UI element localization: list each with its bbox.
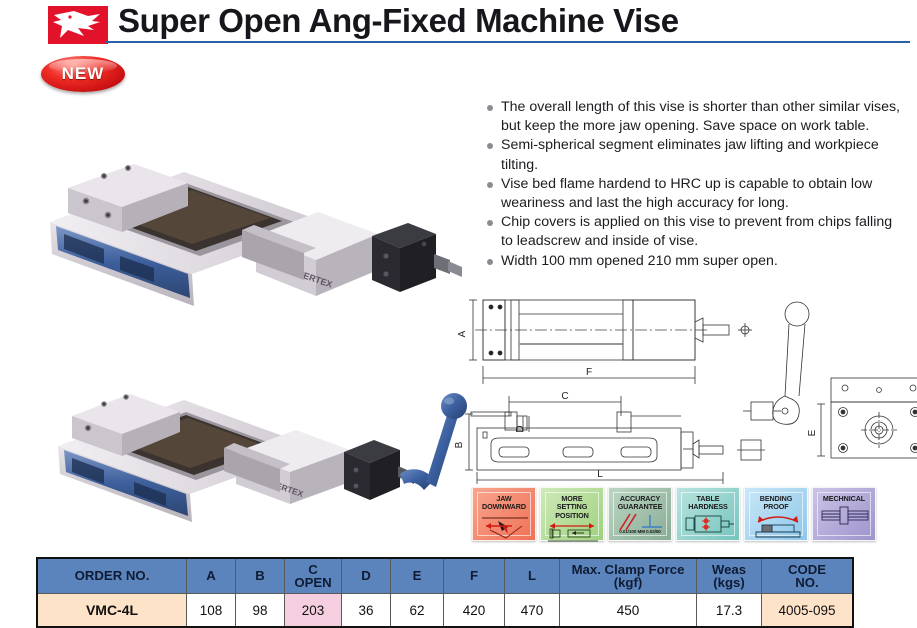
badge-table-hardness: TABLE HARDNESS — [676, 487, 740, 541]
column-header-l: L — [505, 558, 560, 594]
list-item: Chip covers is applied on this vise to p… — [487, 213, 907, 251]
badge-accuracy-guarantee: ACCURACY GUARANTEE 0.01/100 MM 0.02/50 — [608, 487, 672, 541]
dimension-label-f: F — [586, 367, 592, 378]
list-item-text: Semi-spherical segment eliminates jaw li… — [501, 137, 879, 172]
list-item: Width 100 mm opened 210 mm super open. — [487, 252, 907, 271]
list-item-text: Chip covers is applied on this vise to p… — [501, 214, 892, 249]
cell-l: 470 — [505, 594, 560, 628]
bullet-dot-icon — [487, 259, 493, 265]
dimension-label-c: C — [561, 391, 568, 402]
cell-f: 420 — [444, 594, 505, 628]
specification-table: ORDER NO. A B C OPEN D E F L Max. Clamp … — [36, 557, 854, 628]
feature-badge-row: JAW DOWNWARD — [472, 487, 912, 541]
cell-order-no: VMC-4L — [37, 594, 187, 628]
jaw-downward-icon — [478, 512, 530, 535]
eagle-head-logo-icon — [48, 6, 108, 44]
title-underline — [105, 41, 910, 43]
accuracy-guarantee-icon — [614, 512, 666, 529]
column-header-weas: Weas (kgs) — [697, 558, 762, 594]
cell-a: 108 — [187, 594, 236, 628]
badge-label: MORE SETTING POSITION — [546, 495, 598, 520]
badge-jaw-downward: JAW DOWNWARD — [472, 487, 536, 541]
column-header-order-no: ORDER NO. — [37, 558, 187, 594]
vise-photo-with-handle: VERTEX — [48, 334, 468, 529]
dimension-label-a: A — [457, 330, 468, 337]
table-hardness-icon — [682, 512, 734, 535]
column-header-f: F — [444, 558, 505, 594]
cell-b: 98 — [236, 594, 285, 628]
column-header-code-no: CODE NO. — [762, 558, 854, 594]
list-item: The overall length of this vise is short… — [487, 98, 907, 136]
list-item: Vise bed flame hardend to HRC up is capa… — [487, 175, 907, 213]
cell-e: 62 — [391, 594, 444, 628]
bending-proof-icon — [750, 512, 802, 535]
dimension-label-b: B — [455, 441, 465, 448]
badge-label: MECHNICAL — [823, 495, 865, 503]
column-header-max-clamp-force: Max. Clamp Force (kgf) — [560, 558, 697, 594]
list-item-text: Width 100 mm opened 210 mm super open. — [501, 253, 778, 269]
column-header-e: E — [391, 558, 444, 594]
table-row: VMC-4L 108 98 203 36 62 420 470 450 17.3… — [37, 594, 853, 628]
cell-code-no: 4005-095 — [762, 594, 854, 628]
technical-drawings: A F C D B L E — [455, 292, 917, 484]
cell-c-open: 203 — [285, 594, 342, 628]
page-title: Super Open Ang-Fixed Machine Vise — [118, 2, 679, 40]
bullet-dot-icon — [487, 220, 493, 226]
cell-d: 36 — [342, 594, 391, 628]
cell-weas: 17.3 — [697, 594, 762, 628]
bullet-dot-icon — [487, 143, 493, 149]
page-header: Super Open Ang-Fixed Machine Vise — [0, 0, 917, 52]
new-badge-label: NEW — [41, 56, 125, 92]
feature-bullet-list: The overall length of this vise is short… — [487, 98, 907, 271]
list-item: Semi-spherical segment eliminates jaw li… — [487, 136, 907, 174]
column-header-a: A — [187, 558, 236, 594]
mechnical-icon — [818, 503, 870, 535]
bullet-dot-icon — [487, 105, 493, 111]
cell-max-clamp-force: 450 — [560, 594, 697, 628]
more-setting-position-icon — [546, 520, 598, 535]
badge-mechnical: MECHNICAL — [812, 487, 876, 541]
bullet-dot-icon — [487, 182, 493, 188]
vise-photo-without-handle: VERTEX — [42, 84, 462, 314]
badge-label: ACCURACY GUARANTEE — [618, 495, 663, 512]
product-catalog-page: Super Open Ang-Fixed Machine Vise NEW — [0, 0, 917, 625]
side-view-drawing — [465, 396, 765, 484]
top-view-drawing — [469, 300, 752, 384]
list-item-text: Vise bed flame hardend to HRC up is capa… — [501, 176, 872, 211]
dimension-label-d: D — [515, 425, 526, 432]
dimension-label-l: L — [597, 469, 603, 480]
badge-more-setting-position: MORE SETTING POSITION — [540, 487, 604, 541]
dimension-label-e: E — [807, 429, 818, 436]
column-header-b: B — [236, 558, 285, 594]
column-header-c-open: C OPEN — [285, 558, 342, 594]
badge-label: TABLE HARDNESS — [688, 495, 728, 512]
handle-crank-drawing — [743, 302, 809, 424]
badge-label: JAW DOWNWARD — [482, 495, 526, 512]
front-end-view-drawing — [817, 378, 917, 458]
new-badge: NEW — [41, 56, 125, 92]
column-header-d: D — [342, 558, 391, 594]
table-header-row: ORDER NO. A B C OPEN D E F L Max. Clamp … — [37, 558, 853, 594]
badge-label: BENDING PROOF — [760, 495, 792, 512]
list-item-text: The overall length of this vise is short… — [501, 99, 900, 134]
badge-bending-proof: BENDING PROOF — [744, 487, 808, 541]
